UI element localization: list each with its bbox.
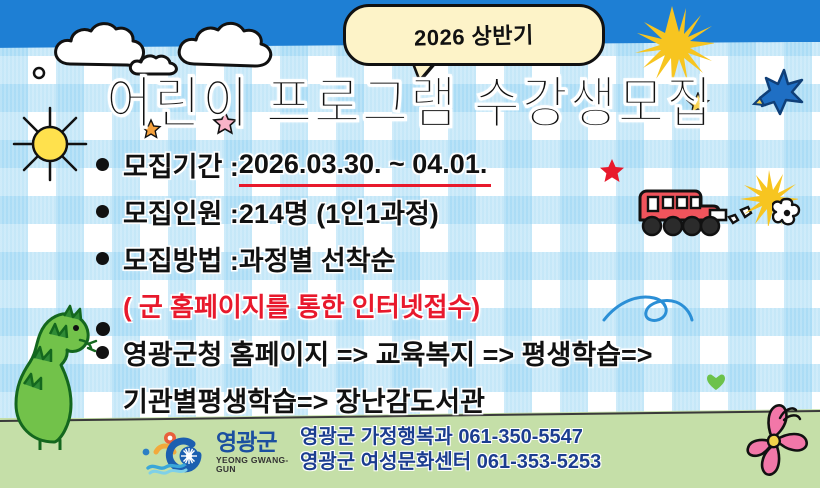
county-logo: 영광군 YEONG GWANG-GUN [140,424,300,480]
info-row-path2: 기관별평생학습=> 장난감도서관 [96,377,796,421]
bullet-icon [96,205,109,218]
info-row-quota: 모집인원 : 214명 (1인1과정) [96,189,796,233]
info-label-period: 모집기간 : [123,145,239,184]
poster-canvas: 2026 상반기 어린이 프로그램 수강생모집 모집기간 : 2026.03.3… [0,0,820,488]
period-underline [239,184,491,187]
season-badge: 2026 상반기 [343,4,605,66]
info-value-path1: 영광군청 홈페이지 => 교육복지 => 평생학습=> [123,333,653,372]
info-label-quota: 모집인원 : [123,192,239,231]
logo-mark-icon [140,426,214,478]
info-value-note: ( 군 홈페이지를 통한 인터넷접수) [123,287,480,324]
bullet-icon [96,346,109,359]
period-value-wrap: 2026.03.30. ~ 04.01. [239,149,487,180]
info-label-method: 모집방법 : [123,239,239,278]
season-badge-label: 2026 상반기 [414,17,535,52]
info-value-period: 2026.03.30. ~ 04.01. [239,149,487,179]
contact-line-1: 영광군 가정행복과 061-350-5547 [300,425,601,451]
contact-block: 영광군 가정행복과 061-350-5547 영광군 여성문화센터 061-35… [300,425,601,476]
info-row-note: ( 군 홈페이지를 통한 인터넷접수) [96,283,796,327]
info-value-path2: 기관별평생학습=> 장난감도서관 [123,380,485,419]
info-row-method: 모집방법 : 과정별 선착순 [96,236,796,280]
poster-title-text: 어린이 프로그램 수강생모집 [106,59,714,140]
info-list: 모집기간 : 2026.03.30. ~ 04.01. 모집인원 : 214명 … [96,142,796,424]
logo-name-en: YEONG GWANG-GUN [216,456,300,473]
bullet-icon [96,158,109,171]
logo-text: 영광군 YEONG GWANG-GUN [216,431,300,473]
contact-line-2: 영광군 여성문화센터 061-353-5253 [300,450,601,476]
logo-name-kr: 영광군 [216,431,300,454]
info-row-period: 모집기간 : 2026.03.30. ~ 04.01. [96,142,796,186]
info-value-quota: 214명 (1인1과정) [239,192,439,231]
bullet-icon [96,252,109,265]
poster-title: 어린이 프로그램 수강생모집 [0,63,820,135]
info-value-method: 과정별 선착순 [239,239,396,278]
info-row-path1: 영광군청 홈페이지 => 교육복지 => 평생학습=> [96,330,796,374]
